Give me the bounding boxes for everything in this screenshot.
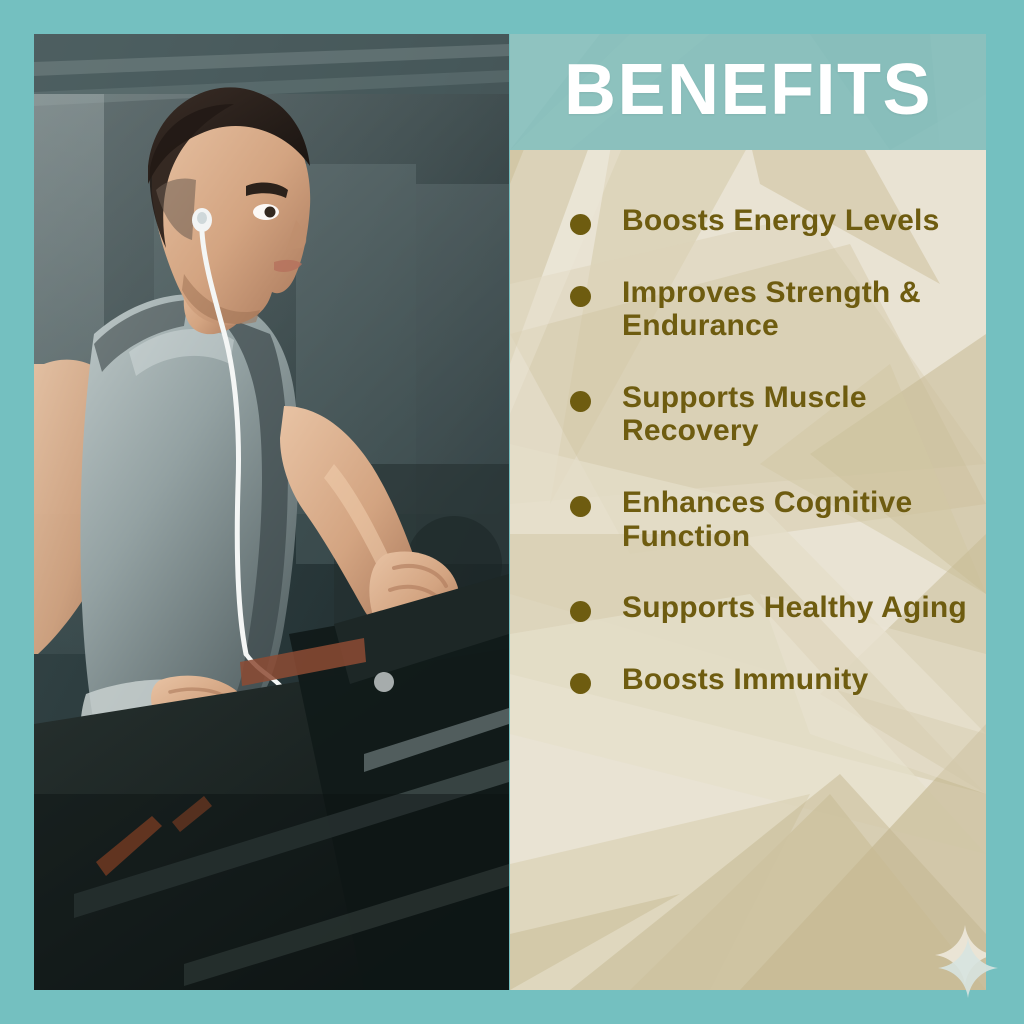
benefits-poster: BENEFITS Boosts Energy Levels Improves S… [0, 0, 1024, 1024]
benefit-label: Enhances Cognitive Function [622, 486, 967, 553]
benefits-panel: BENEFITS Boosts Energy Levels Improves S… [510, 34, 986, 990]
bullet-dot-icon [570, 496, 591, 517]
benefit-label: Supports Healthy Aging [622, 591, 967, 625]
benefit-item-4: Enhances Cognitive Function [510, 486, 986, 553]
benefit-label: Boosts Energy Levels [622, 204, 939, 238]
header-band: BENEFITS [510, 34, 986, 150]
benefit-label: Supports Muscle Recovery [622, 381, 967, 448]
bullet-dot-icon [570, 391, 591, 412]
benefit-item-2: Improves Strength & Endurance [510, 276, 986, 343]
bullet-dot-icon [570, 214, 591, 235]
athlete-treadmill-photo [34, 34, 509, 990]
bullet-dot-icon [570, 601, 591, 622]
benefit-label: Improves Strength & Endurance [622, 276, 967, 343]
bullet-dot-icon [570, 286, 591, 307]
benefits-list: Boosts Energy Levels Improves Strength &… [510, 150, 986, 696]
benefit-item-1: Boosts Energy Levels [510, 204, 986, 238]
benefit-item-6: Boosts Immunity [510, 663, 986, 697]
bullet-dot-icon [570, 673, 591, 694]
page-title: BENEFITS [510, 34, 986, 150]
benefit-item-5: Supports Healthy Aging [510, 591, 986, 625]
benefit-label: Boosts Immunity [622, 663, 868, 697]
benefit-item-3: Supports Muscle Recovery [510, 381, 986, 448]
